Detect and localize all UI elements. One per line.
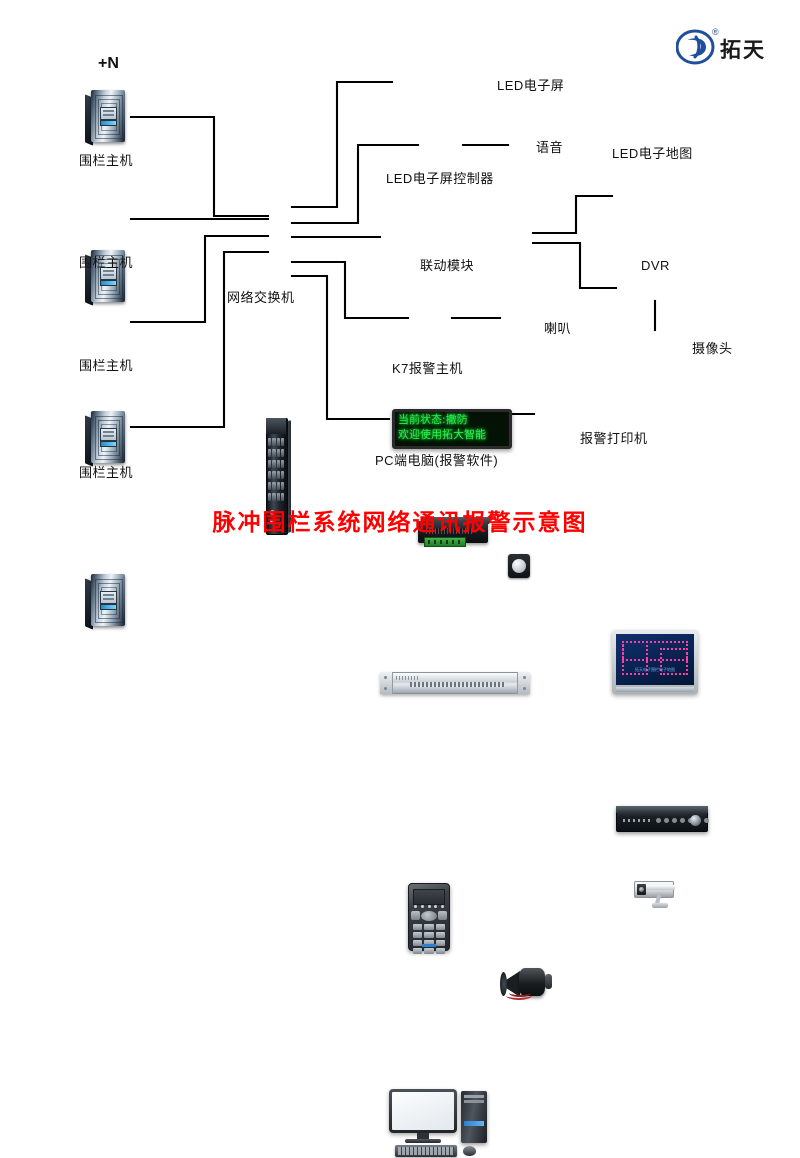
rack-module-icon[interactable] xyxy=(380,672,530,694)
fence-host-led xyxy=(100,280,117,286)
wire-fence4-switch xyxy=(131,252,268,427)
wire-switch-pc xyxy=(292,276,389,419)
k7-logo-bar xyxy=(422,944,436,947)
plus-n-annotation: +N xyxy=(98,55,119,73)
linkage-screw xyxy=(384,687,387,690)
fence-host-icon-3[interactable] xyxy=(85,409,131,467)
fence-host-led xyxy=(100,604,117,610)
pc-monitor-base xyxy=(405,1139,441,1143)
k7-display xyxy=(413,889,445,905)
camera-body xyxy=(634,881,674,898)
led-map-icon[interactable]: 拓天电子围栏电子地图 xyxy=(612,630,698,694)
registered-mark: ® xyxy=(712,27,719,37)
dvr-label: DVR xyxy=(641,258,670,273)
wire-fence1-switch xyxy=(131,117,268,216)
printer-label: 报警打印机 xyxy=(580,428,648,447)
led-display-glass: 当前状态:撤防 欢迎使用拓大智能 xyxy=(396,412,508,446)
dvr-icon[interactable] xyxy=(616,806,708,832)
fence-host-1-label: 围栏主机 xyxy=(79,150,133,169)
horn-lead-wire xyxy=(509,989,531,997)
linkage-screw xyxy=(523,676,526,679)
camera-lens xyxy=(637,884,646,895)
fence-host-icon-1[interactable] xyxy=(85,88,131,146)
fence-host-screen xyxy=(100,428,117,441)
k7-status-leds xyxy=(414,905,444,908)
led-controller-label: LED电子屏控制器 xyxy=(386,168,494,187)
network-switch-label: 网络交换机 xyxy=(227,287,295,306)
pc-drive-bay xyxy=(464,1100,484,1103)
k7-navigation-pad[interactable] xyxy=(421,911,437,921)
dvr-branding xyxy=(623,819,651,822)
fence-host-screen xyxy=(100,107,117,120)
alarm-keypad-icon[interactable] xyxy=(408,883,450,951)
controller-terminal-block xyxy=(424,537,466,547)
pc-drive-bay xyxy=(464,1095,484,1098)
k7-keypad[interactable] xyxy=(413,924,445,954)
fence-host-icon-4[interactable] xyxy=(85,572,131,630)
pc-tower xyxy=(461,1091,487,1143)
voice-module-icon[interactable] xyxy=(508,554,530,578)
fence-host-2-label: 围栏主机 xyxy=(79,252,133,271)
led-display-line-2: 欢迎使用拓大智能 xyxy=(396,427,508,442)
led-screen-label: LED电子屏 xyxy=(497,75,564,94)
linkage-screw xyxy=(523,687,526,690)
wire-linkage-ledmap xyxy=(533,196,612,233)
k7-softkey-right[interactable] xyxy=(438,911,447,920)
voice-label: 语音 xyxy=(536,137,563,156)
pc-keyboard xyxy=(395,1145,457,1157)
camera-mount xyxy=(652,903,668,908)
led-map-screen: 拓天电子围栏电子地图 xyxy=(616,634,694,685)
pc-monitor xyxy=(389,1089,457,1133)
camera-label: 摄像头 xyxy=(692,338,733,357)
fence-host-screen xyxy=(100,591,117,604)
camera-icon[interactable] xyxy=(630,875,686,915)
led-display-icon[interactable]: 当前状态:撤防 欢迎使用拓大智能 xyxy=(392,409,512,449)
k7-alarm-host-label: K7报警主机 xyxy=(392,358,463,377)
diagram-canvas: ® 拓天 +N 围栏主机 围栏主机 围栏主机 xyxy=(0,0,800,579)
fence-host-3-label: 围栏主机 xyxy=(79,355,133,374)
linkage-port-strip xyxy=(410,682,505,687)
fence-host-led xyxy=(100,120,117,126)
led-display-line-1: 当前状态:撤防 xyxy=(396,412,508,427)
k7-softkey-left[interactable] xyxy=(411,911,420,920)
linkage-ear-left xyxy=(380,672,393,694)
wire-linkage-dvr xyxy=(533,243,616,288)
horn-speaker-label: 喇叭 xyxy=(544,318,571,337)
switch-port-array xyxy=(268,438,284,504)
switch-top-bar xyxy=(266,418,286,434)
led-map-label: LED电子地图 xyxy=(612,143,693,162)
dvr-top xyxy=(616,806,708,813)
linkage-module-label: 联动模块 xyxy=(420,255,474,274)
voice-dome xyxy=(512,559,526,573)
brand-logo: ® 拓天 xyxy=(676,28,788,66)
tuotian-emblem-icon xyxy=(676,28,716,66)
fence-host-4-label: 围栏主机 xyxy=(79,462,133,481)
pc-front-panel-light xyxy=(464,1121,484,1126)
wire-fence3-switch xyxy=(131,236,268,322)
pc-mouse xyxy=(463,1146,476,1156)
wire-switch-k7 xyxy=(292,262,408,318)
diagram-title: 脉冲围栏系统网络通讯报警示意图 xyxy=(0,503,800,537)
linkage-screw xyxy=(384,676,387,679)
horn-cap xyxy=(545,974,552,989)
horn-speaker-icon[interactable] xyxy=(500,965,554,1001)
dvr-jog-dial xyxy=(690,815,701,826)
dvr-button-row xyxy=(656,818,709,823)
led-map-base xyxy=(616,687,694,692)
desktop-computer-icon[interactable] xyxy=(389,1089,501,1158)
fence-host-led xyxy=(100,441,117,447)
brand-name: 拓天 xyxy=(720,34,766,64)
pc-label: PC端电脑(报警软件) xyxy=(375,450,498,469)
linkage-marking xyxy=(396,676,418,680)
led-map-caption: 拓天电子围栏电子地图 xyxy=(624,667,686,673)
